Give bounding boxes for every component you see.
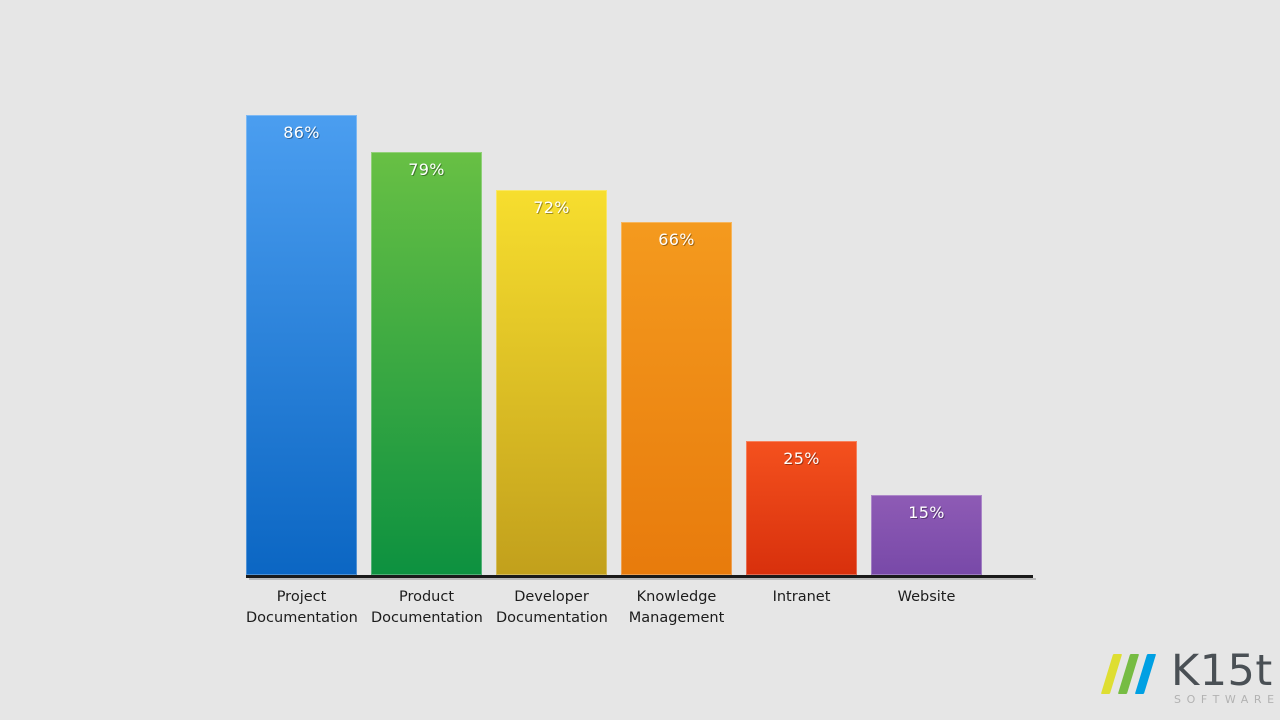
slashes-icon <box>1105 654 1167 694</box>
x-tick-label-knowledge-management: Knowledge Management <box>621 587 732 629</box>
bar-value-label: 72% <box>496 198 607 217</box>
bar-value-label: 25% <box>746 449 857 468</box>
bar-chart: 86% 79% 72% 66% 25% <box>0 0 1280 720</box>
bar-slot: 25% <box>746 441 857 575</box>
bar-slot: 86% <box>246 115 357 575</box>
logo-wordmark: K15t <box>1171 648 1273 694</box>
bar-value-label: 15% <box>871 503 982 522</box>
x-tick-label-intranet: Intranet <box>746 587 857 629</box>
x-axis-line <box>246 575 1033 578</box>
bar-slot: 15% <box>871 495 982 575</box>
x-tick-label-project-documentation: Project Documentation <box>246 587 357 629</box>
bar-value-label: 86% <box>246 123 357 142</box>
x-axis-tick-labels: Project Documentation Product Documentat… <box>246 587 1036 629</box>
slash-icon-3 <box>1135 654 1156 694</box>
bar-product-documentation[interactable]: 79% <box>371 152 482 575</box>
bar-value-label: 66% <box>621 230 732 249</box>
bar-slot: 79% <box>371 152 482 575</box>
bar-project-documentation[interactable]: 86% <box>246 115 357 575</box>
plot-area: 86% 79% 72% 66% 25% <box>246 40 1036 575</box>
bars-container: 86% 79% 72% 66% 25% <box>246 40 1036 575</box>
x-tick-label-product-documentation: Product Documentation <box>371 587 482 629</box>
k15t-logo: K15t SOFTWARE <box>1105 650 1270 712</box>
logo-tagline: SOFTWARE <box>1174 693 1280 706</box>
bar-intranet[interactable]: 25% <box>746 441 857 575</box>
bar-developer-documentation[interactable]: 72% <box>496 190 607 575</box>
bar-knowledge-management[interactable]: 66% <box>621 222 732 575</box>
bar-slot: 72% <box>496 190 607 575</box>
x-axis-shadow <box>249 578 1036 580</box>
x-tick-label-developer-documentation: Developer Documentation <box>496 587 607 629</box>
bar-slot: 66% <box>621 222 732 575</box>
x-tick-label-website: Website <box>871 587 982 629</box>
bar-value-label: 79% <box>371 160 482 179</box>
bar-website[interactable]: 15% <box>871 495 982 575</box>
